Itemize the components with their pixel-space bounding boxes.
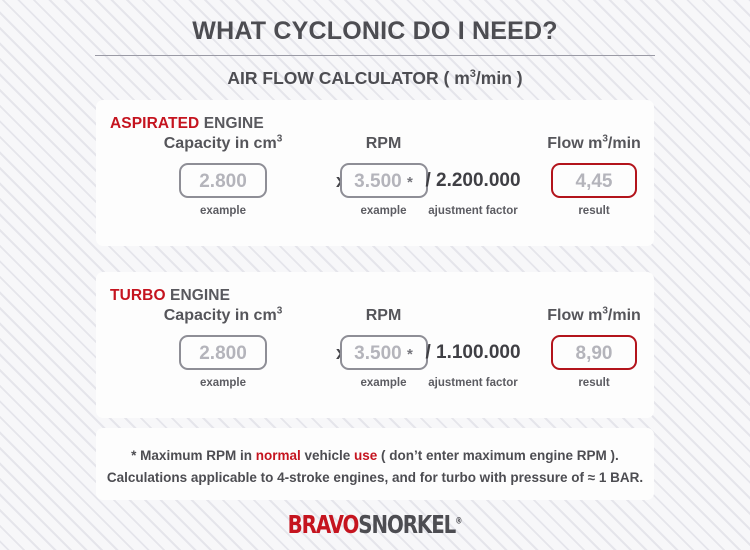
footnote-line-2: Calculations applicable to 4-stroke engi… — [96, 467, 654, 489]
turbo-calc-row: Capacity in cm3 2.800 example x RPM 3.50… — [96, 305, 654, 405]
aspirated-plain-word: ENGINE — [199, 115, 263, 132]
turbo-result-output: 8,90 — [551, 335, 637, 370]
subtitle-main: AIR FLOW CALCULATOR ( m — [227, 68, 469, 88]
turbo-plain-word: ENGINE — [166, 287, 230, 304]
aspirated-engine-card: ASPIRATED ENGINE Capacity in cm3 2.800 e… — [96, 100, 654, 246]
air-flow-calculator-page: WHAT CYCLONIC DO I NEED? AIR FLOW CALCUL… — [0, 0, 750, 550]
page-title: WHAT CYCLONIC DO I NEED? — [0, 14, 750, 48]
capacity-header-text: Capacity in cm — [164, 135, 277, 152]
page-subtitle: AIR FLOW CALCULATOR ( m3/min ) — [0, 67, 750, 89]
turbo-capacity-input[interactable]: 2.800 — [179, 335, 267, 370]
footnote-line1-part-c: ( don’t enter maximum engine RPM ). — [377, 448, 619, 463]
turbo-engine-card: TURBO ENGINE Capacity in cm3 2.800 examp… — [96, 272, 654, 418]
registered-trademark-icon: ® — [455, 517, 462, 527]
aspirated-capacity-input[interactable]: 2.800 — [179, 163, 267, 198]
aspirated-engine-label: ASPIRATED ENGINE — [110, 115, 654, 133]
flow-column-header: Flow m3/min — [474, 305, 714, 327]
flow-header-tail: /min — [608, 307, 641, 324]
subtitle-tail: /min ) — [476, 68, 523, 88]
aspirated-calc-row: Capacity in cm3 2.800 example x RPM 3.50… — [96, 133, 654, 233]
page-header: WHAT CYCLONIC DO I NEED? AIR FLOW CALCUL… — [0, 0, 750, 89]
logo-snorkel-text: SNORKEL — [358, 510, 455, 539]
aspirated-flow-column: Flow m3/min 4,45 result — [474, 133, 714, 217]
flow-header-tail: /min — [608, 135, 641, 152]
capacity-header-text: Capacity in cm — [164, 307, 277, 324]
footnote-text: * Maximum RPM in normal vehicle use ( do… — [96, 428, 654, 489]
footnote-line1-part-a: * Maximum RPM in — [131, 448, 256, 463]
aspirated-accent-word: ASPIRATED — [110, 115, 199, 132]
flow-header-text: Flow m — [547, 135, 602, 152]
footnote-accent-normal: normal — [256, 448, 301, 463]
title-divider — [95, 55, 655, 56]
turbo-result-sublabel: result — [474, 377, 714, 389]
footnote-line-1: * Maximum RPM in normal vehicle use ( do… — [96, 445, 654, 467]
footnote-card: * Maximum RPM in normal vehicle use ( do… — [96, 428, 654, 500]
footnote-accent-use: use — [354, 448, 377, 463]
footnote-line1-part-b: vehicle — [301, 448, 354, 463]
logo-bravo-text: BRAVO — [288, 510, 359, 539]
aspirated-result-output: 4,45 — [551, 163, 637, 198]
turbo-engine-label: TURBO ENGINE — [110, 287, 654, 305]
turbo-accent-word: TURBO — [110, 287, 166, 304]
flow-header-text: Flow m — [547, 307, 602, 324]
turbo-flow-column: Flow m3/min 8,90 result — [474, 305, 714, 389]
bravo-snorkel-logo: BRAVOSNORKEL® — [45, 510, 705, 539]
flow-column-header: Flow m3/min — [474, 133, 714, 155]
aspirated-result-sublabel: result — [474, 205, 714, 217]
